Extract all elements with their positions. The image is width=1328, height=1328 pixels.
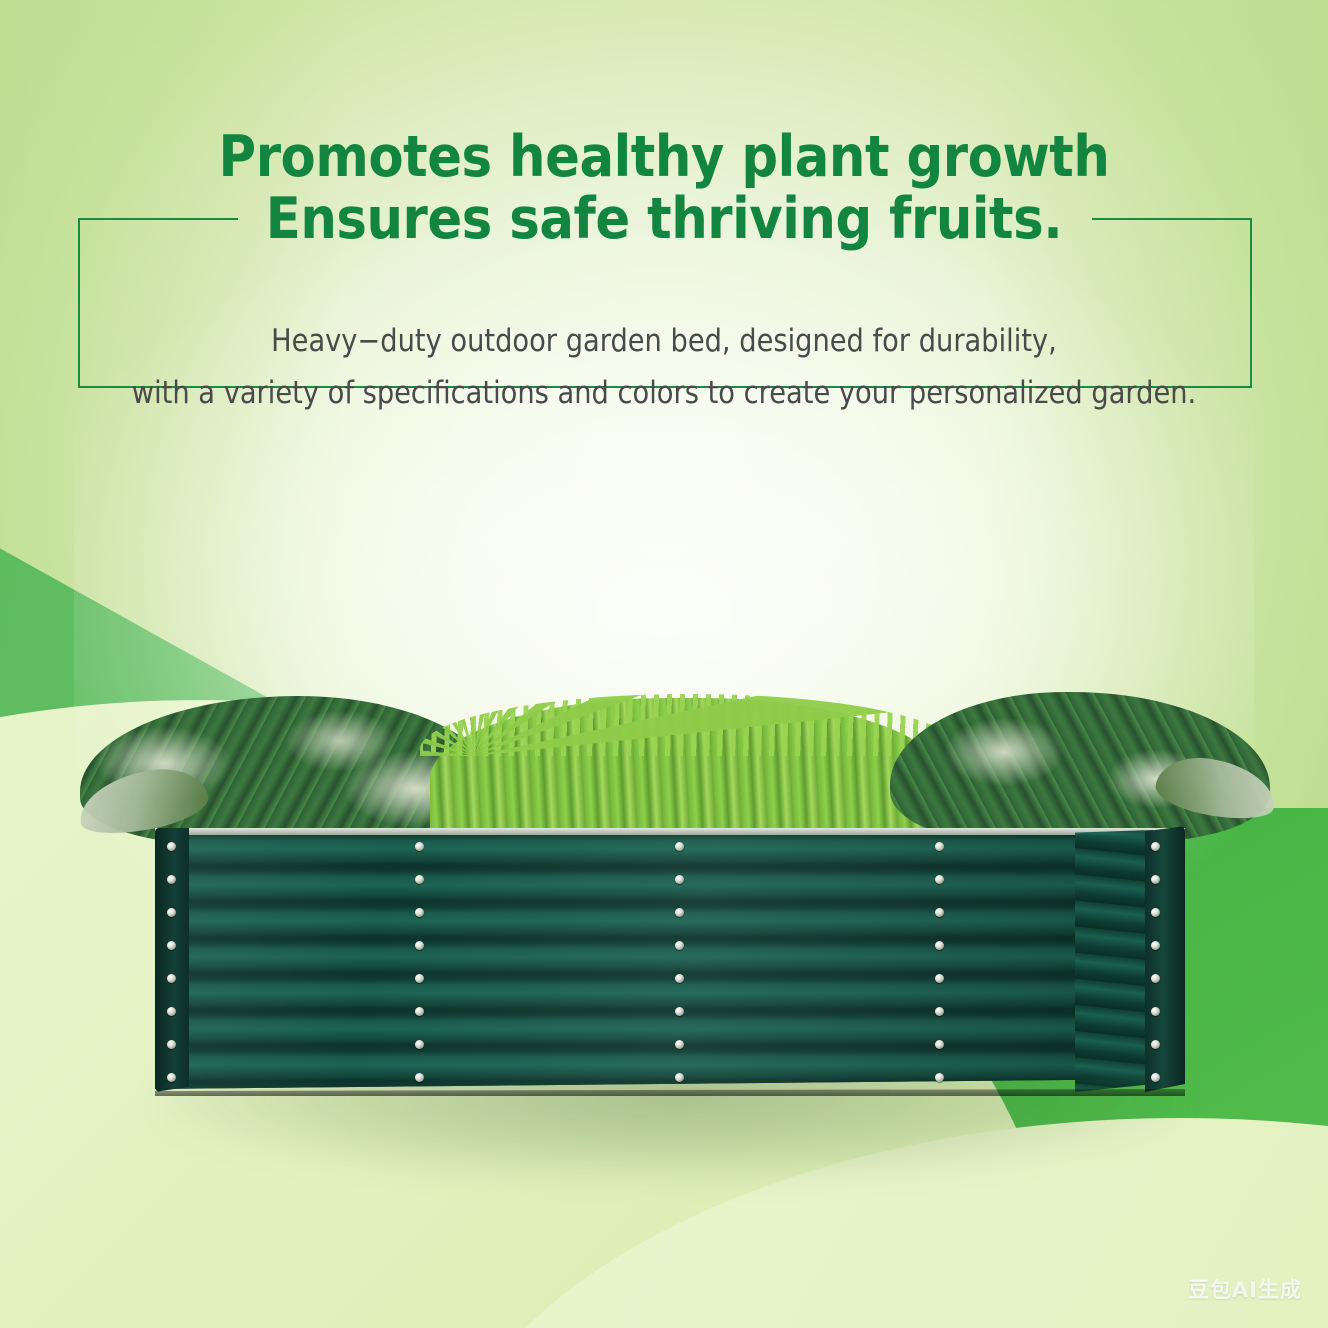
screw-icon: [1151, 908, 1160, 917]
screw-icon: [167, 1073, 176, 1082]
screw-icon: [415, 1007, 424, 1016]
subtitle-line-1: Heavy−duty outdoor garden bed, designed …: [80, 315, 1249, 367]
screw-icon: [675, 875, 684, 884]
screw-icon: [1151, 875, 1160, 884]
headline-line-2: Ensures safe thriving fruits.: [66, 188, 1261, 250]
screw-icon: [1151, 974, 1160, 983]
screw-icon: [415, 941, 424, 950]
subtitle: Heavy−duty outdoor garden bed, designed …: [80, 315, 1249, 419]
screw-icon: [1151, 1040, 1160, 1049]
screw-icon: [675, 974, 684, 983]
screw-icon: [415, 1040, 424, 1049]
ai-watermark: 豆包AI生成: [1188, 1274, 1302, 1304]
screw-icon: [167, 974, 176, 983]
screw-column: [935, 842, 945, 1082]
screw-icon: [935, 1073, 944, 1082]
subtitle-line-2: with a variety of specifications and col…: [80, 367, 1249, 419]
screw-icon: [675, 941, 684, 950]
bed-end-panel: [1075, 830, 1153, 1092]
screw-icon: [167, 941, 176, 950]
screw-icon: [935, 1007, 944, 1016]
screw-icon: [167, 1007, 176, 1016]
screw-icon: [415, 974, 424, 983]
screw-icon: [675, 842, 684, 851]
screw-icon: [415, 875, 424, 884]
screw-icon: [415, 908, 424, 917]
screw-icon: [675, 908, 684, 917]
screw-column: [675, 842, 685, 1082]
screw-column: [415, 842, 425, 1082]
headline-line-1: Promotes healthy plant growth: [66, 126, 1261, 188]
screw-icon: [935, 842, 944, 851]
screw-icon: [935, 974, 944, 983]
screw-column: [167, 842, 177, 1082]
bed-bottom-edge: [155, 1089, 1185, 1096]
product-poster: Promotes healthy plant growth Ensures sa…: [0, 0, 1328, 1328]
screw-icon: [935, 908, 944, 917]
screw-icon: [1151, 1007, 1160, 1016]
screw-icon: [415, 842, 424, 851]
screw-icon: [1151, 1073, 1160, 1082]
screw-column: [1151, 842, 1161, 1082]
garden-bed-body: [155, 828, 1185, 1096]
screw-icon: [167, 908, 176, 917]
screw-icon: [167, 1040, 176, 1049]
screw-icon: [935, 875, 944, 884]
screw-icon: [1151, 941, 1160, 950]
headline-block: Promotes healthy plant growth Ensures sa…: [0, 110, 1328, 300]
screw-icon: [675, 1073, 684, 1082]
screw-icon: [167, 842, 176, 851]
screw-icon: [1151, 842, 1160, 851]
product-image: [70, 660, 1270, 1110]
screw-icon: [935, 941, 944, 950]
lettuce-leaf-tips: [420, 694, 960, 756]
screw-icon: [935, 1040, 944, 1049]
page-title: Promotes healthy plant growth Ensures sa…: [66, 110, 1261, 250]
screw-icon: [675, 1007, 684, 1016]
screw-icon: [167, 875, 176, 884]
screw-icon: [675, 1040, 684, 1049]
screw-icon: [415, 1073, 424, 1082]
bed-corrugated-panel: [155, 835, 1185, 1089]
